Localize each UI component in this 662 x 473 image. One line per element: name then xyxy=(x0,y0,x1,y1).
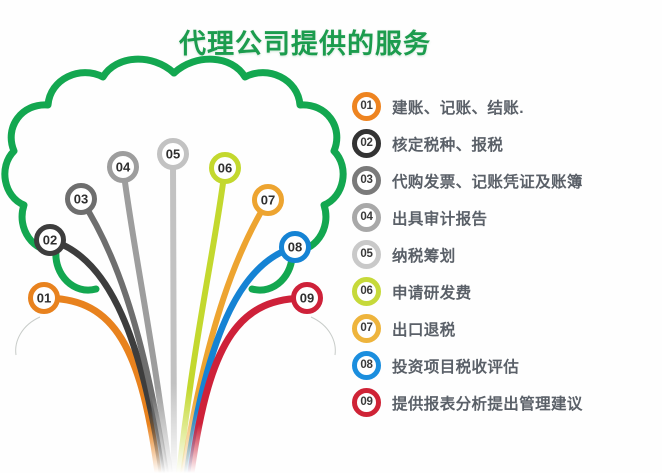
legend-label-09: 提供报表分析提出管理建议 xyxy=(392,392,583,414)
legend-item-03[interactable]: 03 代购发票、记账凭证及账簿 xyxy=(352,162,662,199)
legend-badge-01-number: 01 xyxy=(360,101,372,113)
legend-item-09[interactable]: 09 提供报表分析提出管理建议 xyxy=(352,384,662,421)
legend-badge-09: 09 xyxy=(352,388,381,417)
legend-label-02: 核定税种、报税 xyxy=(392,133,503,155)
legend-badge-05: 05 xyxy=(352,240,381,269)
stem-01 xyxy=(44,298,158,473)
legend-badge-08-number: 08 xyxy=(360,360,372,372)
legend-item-08[interactable]: 08 投资项目税收评估 xyxy=(352,347,662,384)
legend-badge-02: 02 xyxy=(352,129,381,158)
legend-label-05: 纳税筹划 xyxy=(392,244,456,266)
legend-badge-04-number: 04 xyxy=(360,212,372,224)
legend-badge-06-number: 06 xyxy=(360,286,372,298)
legend-item-05[interactable]: 05 纳税筹划 xyxy=(352,236,662,273)
tree-node-05[interactable]: 05 xyxy=(160,141,187,168)
legend-label-06: 申请研发费 xyxy=(392,281,472,303)
tree-node-04[interactable]: 04 xyxy=(110,154,137,181)
legend-badge-07-number: 07 xyxy=(360,323,372,335)
stem-09 xyxy=(191,298,307,473)
legend-badge-09-number: 09 xyxy=(360,397,372,409)
legend-badge-03: 03 xyxy=(352,166,381,195)
legend-label-07: 出口退税 xyxy=(392,318,456,340)
infographic-canvas: 代理公司提供的服务 xyxy=(0,0,662,473)
legend-item-02[interactable]: 02 核定税种、报税 xyxy=(352,125,662,162)
tree-node-01[interactable]: 01 xyxy=(31,285,58,312)
legend-badge-04: 04 xyxy=(352,203,381,232)
service-legend-list: 01 建账、记账、结账. 02 核定税种、报税 03 代购发票、记账凭证及账簿 … xyxy=(352,88,662,421)
legend-badge-03-number: 03 xyxy=(360,175,372,187)
legend-label-01: 建账、记账、结账. xyxy=(392,96,524,118)
tree-node-06[interactable]: 06 xyxy=(212,155,239,182)
legend-badge-05-number: 05 xyxy=(360,249,372,261)
tree-node-02[interactable]: 02 xyxy=(37,227,64,254)
tree-node-03[interactable]: 03 xyxy=(68,186,95,213)
tree-node-09[interactable]: 09 xyxy=(294,285,321,312)
green-cloud-canopy-left xyxy=(5,59,174,290)
legend-item-04[interactable]: 04 出具审计报告 xyxy=(352,199,662,236)
legend-item-01[interactable]: 01 建账、记账、结账. xyxy=(352,88,662,125)
legend-item-07[interactable]: 07 出口退税 xyxy=(352,310,662,347)
legend-label-08: 投资项目税收评估 xyxy=(392,355,519,377)
tree-node-08[interactable]: 08 xyxy=(282,234,309,261)
legend-badge-02-number: 02 xyxy=(360,138,372,150)
tree-fan-diagram: 01 02 03 04 05 xyxy=(0,55,348,473)
legend-badge-06: 06 xyxy=(352,277,381,306)
stem-04 xyxy=(123,167,170,473)
legend-badge-01: 01 xyxy=(352,92,381,121)
stem-05 xyxy=(173,154,174,473)
legend-badge-08: 08 xyxy=(352,351,381,380)
legend-badge-07: 07 xyxy=(352,314,381,343)
tree-node-07[interactable]: 07 xyxy=(255,187,282,214)
legend-label-03: 代购发票、记账凭证及账簿 xyxy=(392,170,583,192)
green-cloud-canopy xyxy=(174,59,343,290)
legend-item-06[interactable]: 06 申请研发费 xyxy=(352,273,662,310)
legend-label-04: 出具审计报告 xyxy=(392,207,487,229)
